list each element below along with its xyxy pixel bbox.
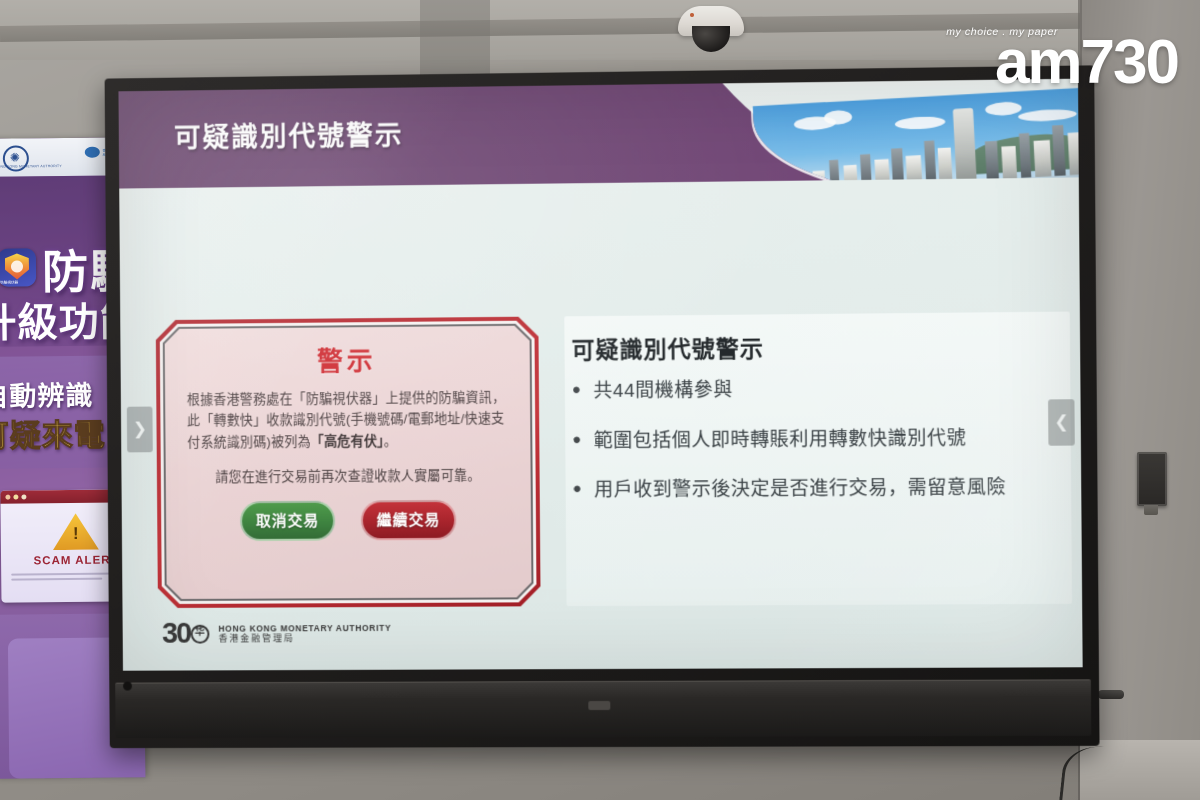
cctv-dome	[692, 26, 730, 52]
warning-card-content: 警示 根據香港警務處在「防騙視伏器」上提供的防騙資訊，此「轉數快」收款識別代號(…	[165, 326, 532, 599]
cancel-transaction-button[interactable]: 取消交易	[240, 501, 335, 541]
bullet-text: 共44間機構參與	[593, 377, 733, 406]
bullet-text: 範圍包括個人即時轉賬利用轉數快識別代號	[594, 425, 967, 455]
bauhinia-icon: ✺	[10, 151, 20, 163]
cctv-camera-icon	[678, 6, 744, 58]
bullet-text: 用戶收到警示後決定是否進行交易，需留意風險	[594, 474, 1006, 504]
slide-next-button[interactable]: ❮	[1048, 399, 1075, 446]
presentation-slide: 可疑識別代號警示 警示 根據香港警務處在「防騙視伏器」上提供的防騙資訊，此「轉數…	[118, 79, 1082, 671]
warning-card: 警示 根據香港警務處在「防騙視伏器」上提供的防騙資訊，此「轉數快」收款識別代號(…	[156, 317, 541, 608]
slide-header: 可疑識別代號警示	[118, 79, 1078, 189]
anniversary-number: 30	[162, 620, 190, 649]
anniversary-emblem-icon	[191, 625, 210, 644]
content-heading: 可疑識別代號警示	[571, 329, 764, 365]
soundbar	[115, 679, 1091, 738]
warning-card-actions: 取消交易 繼續交易	[188, 500, 510, 542]
hong-kong-skyline-image	[753, 87, 1079, 188]
shield-icon	[5, 253, 29, 279]
warning-body-part2: 。	[384, 433, 397, 448]
bullet-dot-icon: ●	[572, 428, 582, 456]
watermark-brand: am730	[946, 32, 1178, 94]
hkma-name-zh: 香港金融管理局	[219, 633, 392, 645]
poster-sub-2: 可疑來電	[0, 410, 106, 456]
door-handle[interactable]	[1098, 690, 1124, 699]
slide-footer: 30 HONG KONG MONETARY AUTHORITY 香港金融管理局	[162, 619, 391, 649]
cctv-led	[690, 13, 694, 17]
screen-bezel: 可疑識別代號警示 警示 根據香港警務處在「防騙視伏器」上提供的防騙資訊，此「轉數…	[118, 79, 1082, 671]
hkma-name-en: HONG KONG MONETARY AUTHORITY	[218, 622, 391, 633]
anniversary-logo-icon: 30	[162, 620, 210, 649]
continue-transaction-button[interactable]: 繼續交易	[361, 500, 457, 540]
poster-org-en: HONG KONG MONETARY AUTHORITY	[0, 164, 62, 169]
list-item: ● 用戶收到警示後決定是否進行交易，需留意風險	[573, 474, 1056, 505]
poster-sub-1: 自動辨識	[0, 374, 94, 414]
bullet-dot-icon: ●	[572, 378, 582, 406]
poster-app-tag: 防騙視伏器	[0, 281, 18, 286]
anti-scam-app-icon: 防騙視伏器	[0, 248, 36, 286]
chevron-right-icon: ❯	[133, 419, 147, 439]
watermark: my choice . my paper am730	[946, 26, 1178, 94]
warning-triangle-icon	[53, 512, 99, 550]
hkma-wordmark: HONG KONG MONETARY AUTHORITY 香港金融管理局	[218, 622, 391, 644]
slide-title: 可疑識別代號警示	[174, 113, 404, 155]
ir-sensor-icon	[123, 682, 132, 691]
warning-body-highlight: 「高危有伏」	[311, 433, 384, 448]
wall-mounted-fixture	[1137, 452, 1167, 506]
bullet-dot-icon: ●	[573, 477, 583, 505]
slide-prev-button[interactable]: ❯	[127, 407, 153, 453]
chevron-left-icon: ❮	[1054, 412, 1069, 432]
room-scene: ✺ HONG KONG MONETARY AUTHORITY 香港警務處 反詐騙…	[0, 0, 1200, 800]
warning-body-text: 根據香港警務處在「防騙視伏器」上提供的防騙資訊，此「轉數快」收款識別代號(手機號…	[187, 387, 509, 453]
warning-note-text: 請您在進行交易前再次查證收款人實屬可靠。	[187, 465, 508, 486]
bullet-list: ● 共44間機構參與 ● 範圍包括個人即時轉賬利用轉數快識別代號 ● 用戶收到警…	[572, 374, 1056, 527]
list-item: ● 共44間機構參與	[572, 374, 1055, 406]
list-item: ● 範圍包括個人即時轉賬利用轉數快識別代號	[572, 424, 1055, 455]
warning-heading: 警示	[186, 340, 507, 380]
slide-body: 警示 根據香港警務處在「防騙視伏器」上提供的防騙資訊，此「轉數快」收款識別代號(…	[119, 177, 1082, 670]
display-screen: 可疑識別代號警示 警示 根據香港警務處在「防騙視伏器」上提供的防騙資訊，此「轉數…	[105, 65, 1100, 748]
